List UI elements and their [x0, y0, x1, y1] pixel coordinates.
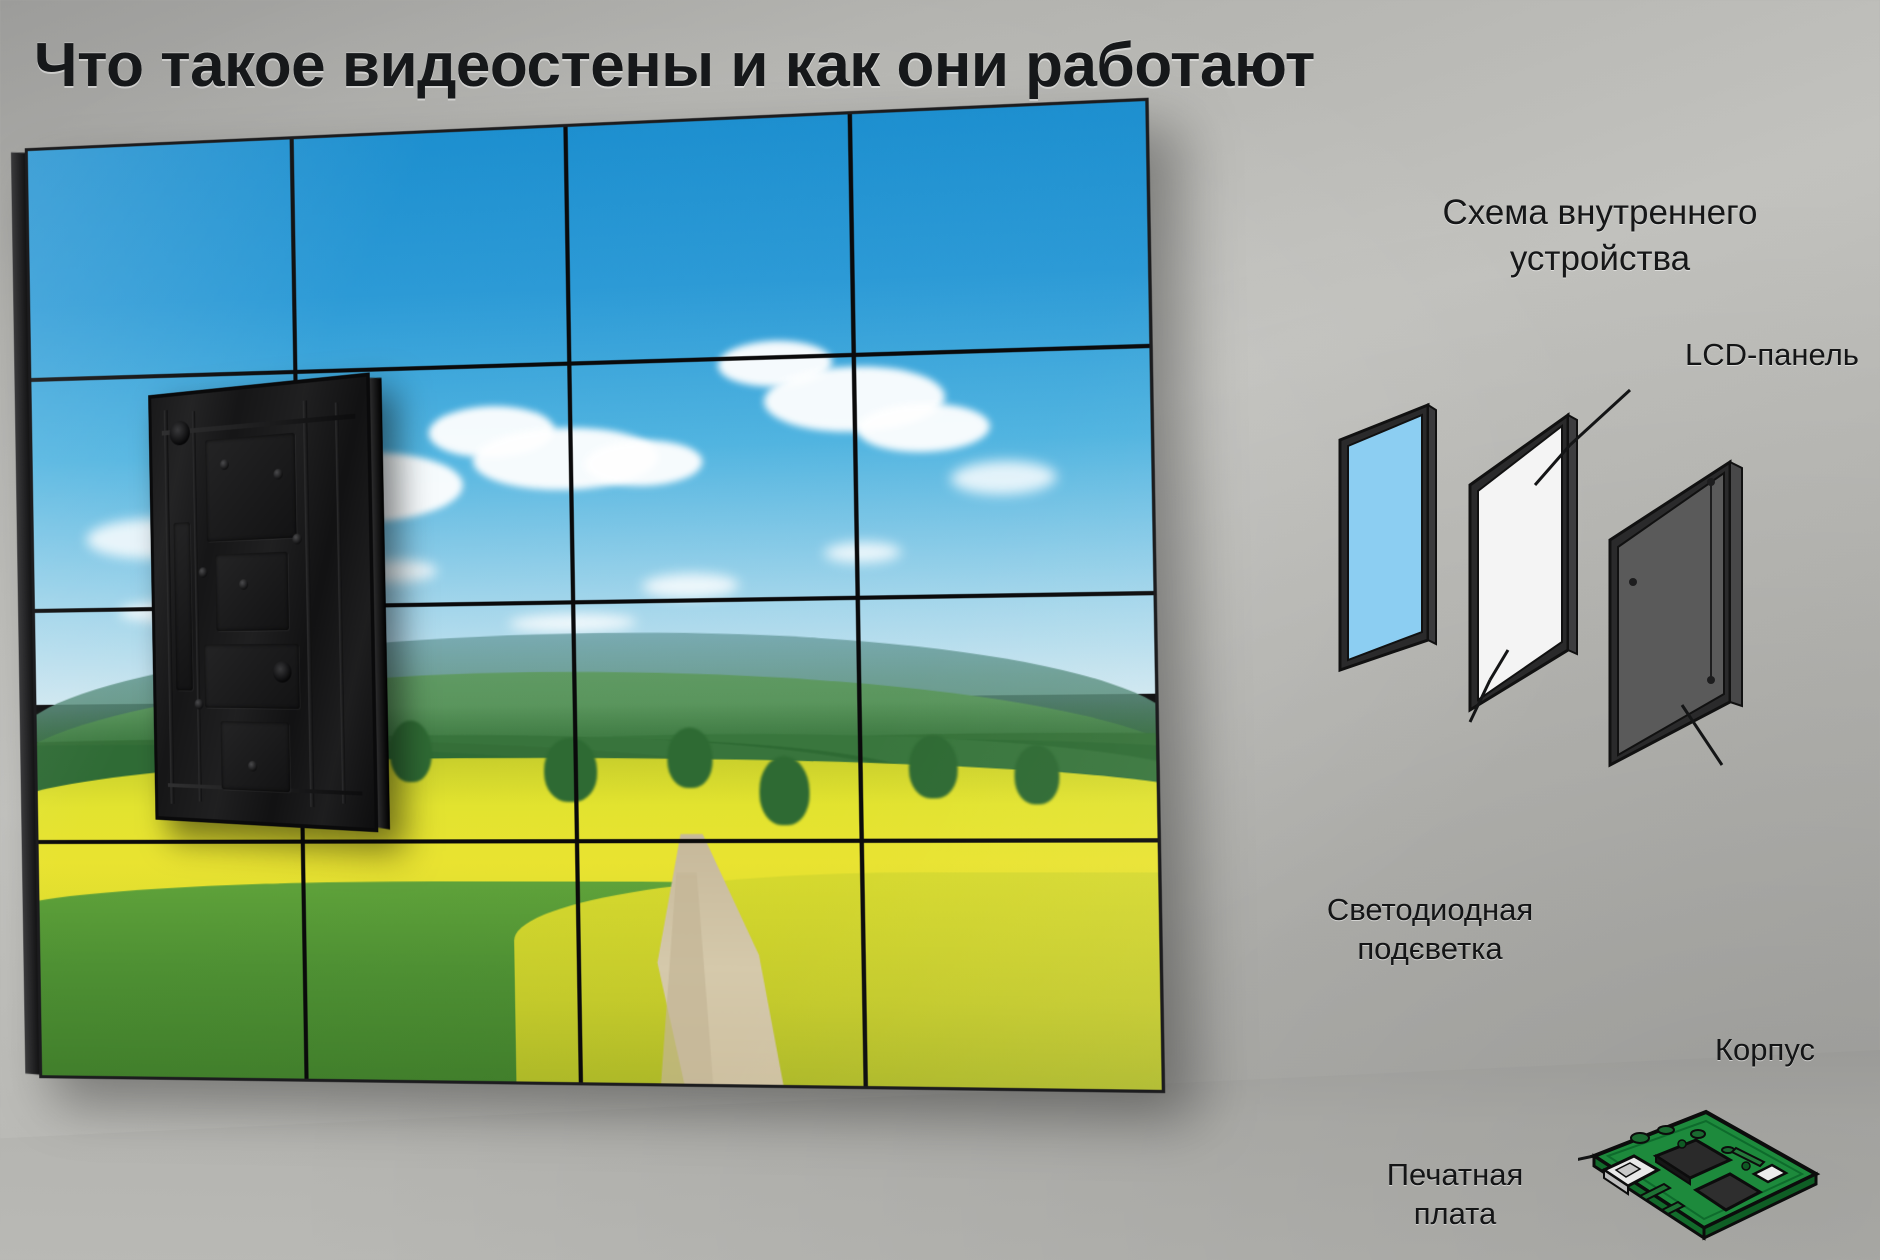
screw: [292, 533, 302, 544]
screw: [248, 761, 257, 772]
display-panel[interactable]: [293, 127, 571, 374]
lcd-panel-layer[interactable]: [1470, 415, 1577, 710]
label-led-backlight: Светодиодная подєветка: [1327, 890, 1533, 968]
chassis-rail: [303, 400, 315, 807]
label-led-backlight-line-2: подєветка: [1327, 929, 1533, 968]
display-panel[interactable]: [859, 595, 1157, 843]
leader-line-pcb: [1578, 1156, 1594, 1164]
label-pcb: Печатная плата: [1387, 1155, 1524, 1233]
display-panel[interactable]: [28, 139, 297, 382]
chassis-rail: [334, 402, 345, 804]
display-panel[interactable]: [571, 357, 859, 604]
pcb-capacitor: [1691, 1130, 1705, 1138]
internal-structure-diagram: Схема внутреннего устройства: [1330, 190, 1870, 1210]
pcb-capacitor: [1631, 1133, 1649, 1143]
chassis-rail: [163, 410, 174, 805]
chassis-plate: [173, 522, 192, 691]
leader-line-lcd: [1570, 390, 1630, 445]
display-panel[interactable]: [863, 842, 1161, 1089]
display-panel[interactable]: [851, 101, 1149, 357]
page-title: Что такое видеостены и как они работают: [34, 30, 1315, 101]
screw: [239, 579, 248, 590]
screw: [195, 699, 204, 709]
chassis-rail: [192, 411, 202, 801]
diagram-title-line-2: устройства: [1330, 236, 1870, 282]
mounting-hole: [272, 661, 291, 682]
display-panel[interactable]: [855, 348, 1153, 600]
display-panel[interactable]: [568, 114, 856, 365]
pcb-via: [1742, 1162, 1750, 1170]
pcb-capacitor: [1658, 1126, 1674, 1134]
led-backlight-layer[interactable]: [1340, 405, 1436, 670]
chassis-plate: [215, 551, 289, 631]
detached-rear-panel[interactable]: [148, 372, 378, 832]
mounting-hole: [170, 420, 191, 446]
label-pcb-line-1: Печатная: [1387, 1155, 1524, 1194]
display-panel[interactable]: [575, 600, 863, 843]
diagram-title-line-1: Схема внутреннего: [1330, 190, 1870, 236]
diagram-title: Схема внутреннего устройства: [1330, 190, 1870, 282]
label-led-backlight-line-1: Светодиодная: [1327, 890, 1533, 929]
chassis-plate: [220, 721, 290, 793]
display-panel[interactable]: [39, 844, 309, 1079]
screw: [199, 568, 208, 579]
rear-panel-chassis: [148, 372, 378, 832]
pcb-via: [1678, 1140, 1686, 1148]
housing-layer[interactable]: [1610, 462, 1742, 765]
label-housing: Корпус: [1715, 1030, 1815, 1069]
chassis-plate: [205, 432, 297, 542]
display-panel[interactable]: [304, 843, 583, 1082]
exploded-layer-stack: [1330, 350, 1870, 780]
pcb-illustration[interactable]: [1578, 1100, 1828, 1260]
chassis-rail: [162, 414, 356, 436]
label-pcb-line-2: плата: [1387, 1194, 1524, 1233]
display-panel[interactable]: [579, 843, 867, 1086]
label-lcd-panel: LCD-панель: [1685, 335, 1859, 374]
